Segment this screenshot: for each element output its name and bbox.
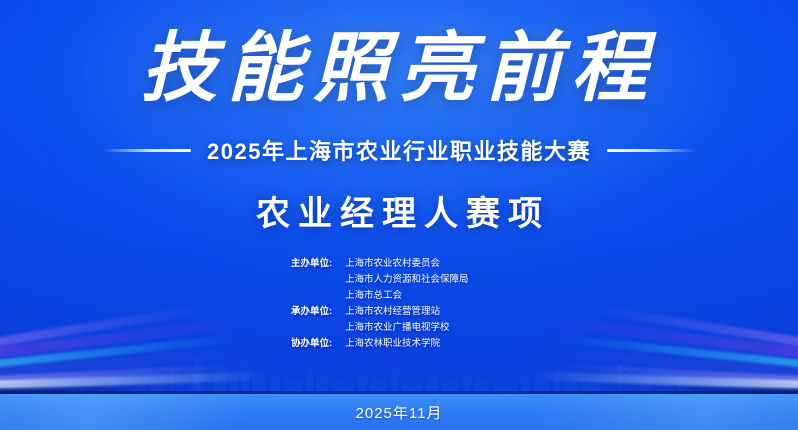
organizer-row: 承办单位: 上海市农业广播电视学校 <box>291 320 507 336</box>
main-title: 技能照亮前程 <box>0 30 798 106</box>
bottom-band: 2025年11月 <box>0 394 798 430</box>
organizer-label: 承办单位: <box>291 304 345 320</box>
organizer-value: 上海市农村经营管理站 <box>345 304 507 320</box>
date-text: 2025年11月 <box>0 394 798 430</box>
organizer-row: 主办单位: 上海市总工会 <box>291 288 507 304</box>
organizer-value: 上海市人力资源和社会保障局 <box>345 272 507 288</box>
organizer-value: 上海市农业广播电视学校 <box>345 320 507 336</box>
subtitle-rule-left <box>103 149 191 152</box>
competition-poster: 技能照亮前程 2025年上海市农业行业职业技能大赛 农业经理人赛项 主办单位: … <box>0 0 798 430</box>
organizer-value: 上海市农业农村委员会 <box>345 256 507 272</box>
subtitle: 2025年上海市农业行业职业技能大赛 <box>207 134 591 166</box>
subtitle-rule-right <box>607 149 695 152</box>
subtitle-row: 2025年上海市农业行业职业技能大赛 <box>0 134 798 166</box>
organizer-value: 上海市总工会 <box>345 288 507 304</box>
organizer-label: 协办单位: <box>291 336 345 352</box>
event-title: 农业经理人赛项 <box>0 186 798 235</box>
poster-content: 技能照亮前程 2025年上海市农业行业职业技能大赛 农业经理人赛项 主办单位: … <box>0 0 798 430</box>
organizer-label: 主办单位: <box>291 256 345 272</box>
organizer-row: 主办单位: 上海市农业农村委员会 <box>291 256 507 272</box>
organizer-row: 主办单位: 上海市人力资源和社会保障局 <box>291 272 507 288</box>
organizer-value: 上海农林职业技术学院 <box>345 336 507 352</box>
organizer-row: 协办单位: 上海农林职业技术学院 <box>291 336 507 352</box>
organizer-row: 承办单位: 上海市农村经营管理站 <box>291 304 507 320</box>
organizer-list: 主办单位: 上海市农业农村委员会 主办单位: 上海市人力资源和社会保障局 主办单… <box>0 256 798 352</box>
